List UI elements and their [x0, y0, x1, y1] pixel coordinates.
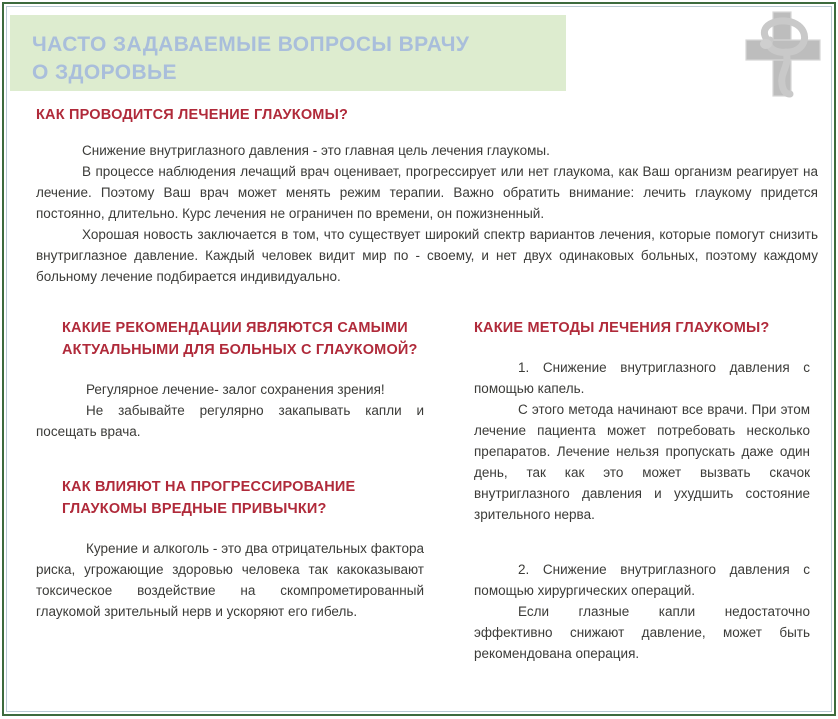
- intro-body: Снижение внутриглазного давления - это г…: [10, 140, 828, 287]
- section-treatment-methods: КАКИЕ МЕТОДЫ ЛЕЧЕНИЯ ГЛАУКОМЫ? 1. Снижен…: [474, 317, 810, 664]
- intro-paragraph-1: Снижение внутриглазного давления - это г…: [36, 140, 818, 161]
- page-title: ЧАСТО ЗАДАВАЕМЫЕ ВОПРОСЫ ВРАЧУ О ЗДОРОВЬ…: [32, 31, 562, 87]
- spacer: [474, 525, 810, 559]
- document-page: ЧАСТО ЗАДАВАЕМЫЕ ВОПРОСЫ ВРАЧУ О ЗДОРОВЬ…: [0, 0, 838, 719]
- right-section1-heading: КАКИЕ МЕТОДЫ ЛЕЧЕНИЯ ГЛАУКОМЫ?: [474, 317, 810, 339]
- right-paragraph-2: С этого метода начинают все врачи. При э…: [474, 399, 810, 525]
- intro-heading: КАК ПРОВОДИТСЯ ЛЕЧЕНИЕ ГЛАУКОМЫ?: [10, 104, 828, 126]
- left-section2-heading: КАК ВЛИЯЮТ НА ПРОГРЕССИРОВАНИЕ ГЛАУКОМЫ …: [36, 476, 424, 520]
- left-section2-paragraph-1: Курение и алкоголь - это два отрицательн…: [36, 538, 424, 622]
- left-section1-paragraph-1: Регулярное лечение- залог сохранения зре…: [36, 379, 424, 400]
- right-paragraph-1: 1. Снижение внутриглазного давления с по…: [474, 357, 810, 399]
- section-intro: КАК ПРОВОДИТСЯ ЛЕЧЕНИЕ ГЛАУКОМЫ? Снижени…: [10, 104, 828, 287]
- spacer: [36, 520, 424, 538]
- left-section1-paragraph-2: Не забывайте регулярно закапывать капли …: [36, 400, 424, 442]
- left-section1-heading: КАКИЕ РЕКОМЕНДАЦИИ ЯВЛЯЮТСЯ САМЫМИ АКТУА…: [36, 317, 424, 361]
- header-banner: ЧАСТО ЗАДАВАЕМЫЕ ВОПРОСЫ ВРАЧУ О ЗДОРОВЬ…: [10, 15, 566, 91]
- spacer: [474, 339, 810, 357]
- section-recommendations: КАКИЕ РЕКОМЕНДАЦИИ ЯВЛЯЮТСЯ САМЫМИ АКТУА…: [36, 317, 424, 442]
- two-column-layout: КАКИЕ РЕКОМЕНДАЦИИ ЯВЛЯЮТСЯ САМЫМИ АКТУА…: [10, 317, 828, 664]
- medical-cross-snake-logo: [740, 8, 826, 100]
- spacer: [36, 361, 424, 379]
- right-paragraph-4: Если глазные капли недостаточно эффектив…: [474, 601, 810, 664]
- left-column: КАКИЕ РЕКОМЕНДАЦИИ ЯВЛЯЮТСЯ САМЫМИ АКТУА…: [10, 317, 450, 664]
- content-area: КАК ПРОВОДИТСЯ ЛЕЧЕНИЕ ГЛАУКОМЫ? Снижени…: [10, 104, 828, 707]
- intro-paragraph-2: В процессе наблюдения лечащий врач оцени…: [36, 161, 818, 224]
- right-column: КАКИЕ МЕТОДЫ ЛЕЧЕНИЯ ГЛАУКОМЫ? 1. Снижен…: [450, 317, 828, 664]
- intro-paragraph-3: Хорошая новость заключается в том, что с…: [36, 224, 818, 287]
- section-bad-habits: КАК ВЛИЯЮТ НА ПРОГРЕССИРОВАНИЕ ГЛАУКОМЫ …: [36, 476, 424, 622]
- spacer: [36, 442, 424, 476]
- right-paragraph-3: 2. Снижение внутриглазного давления с по…: [474, 559, 810, 601]
